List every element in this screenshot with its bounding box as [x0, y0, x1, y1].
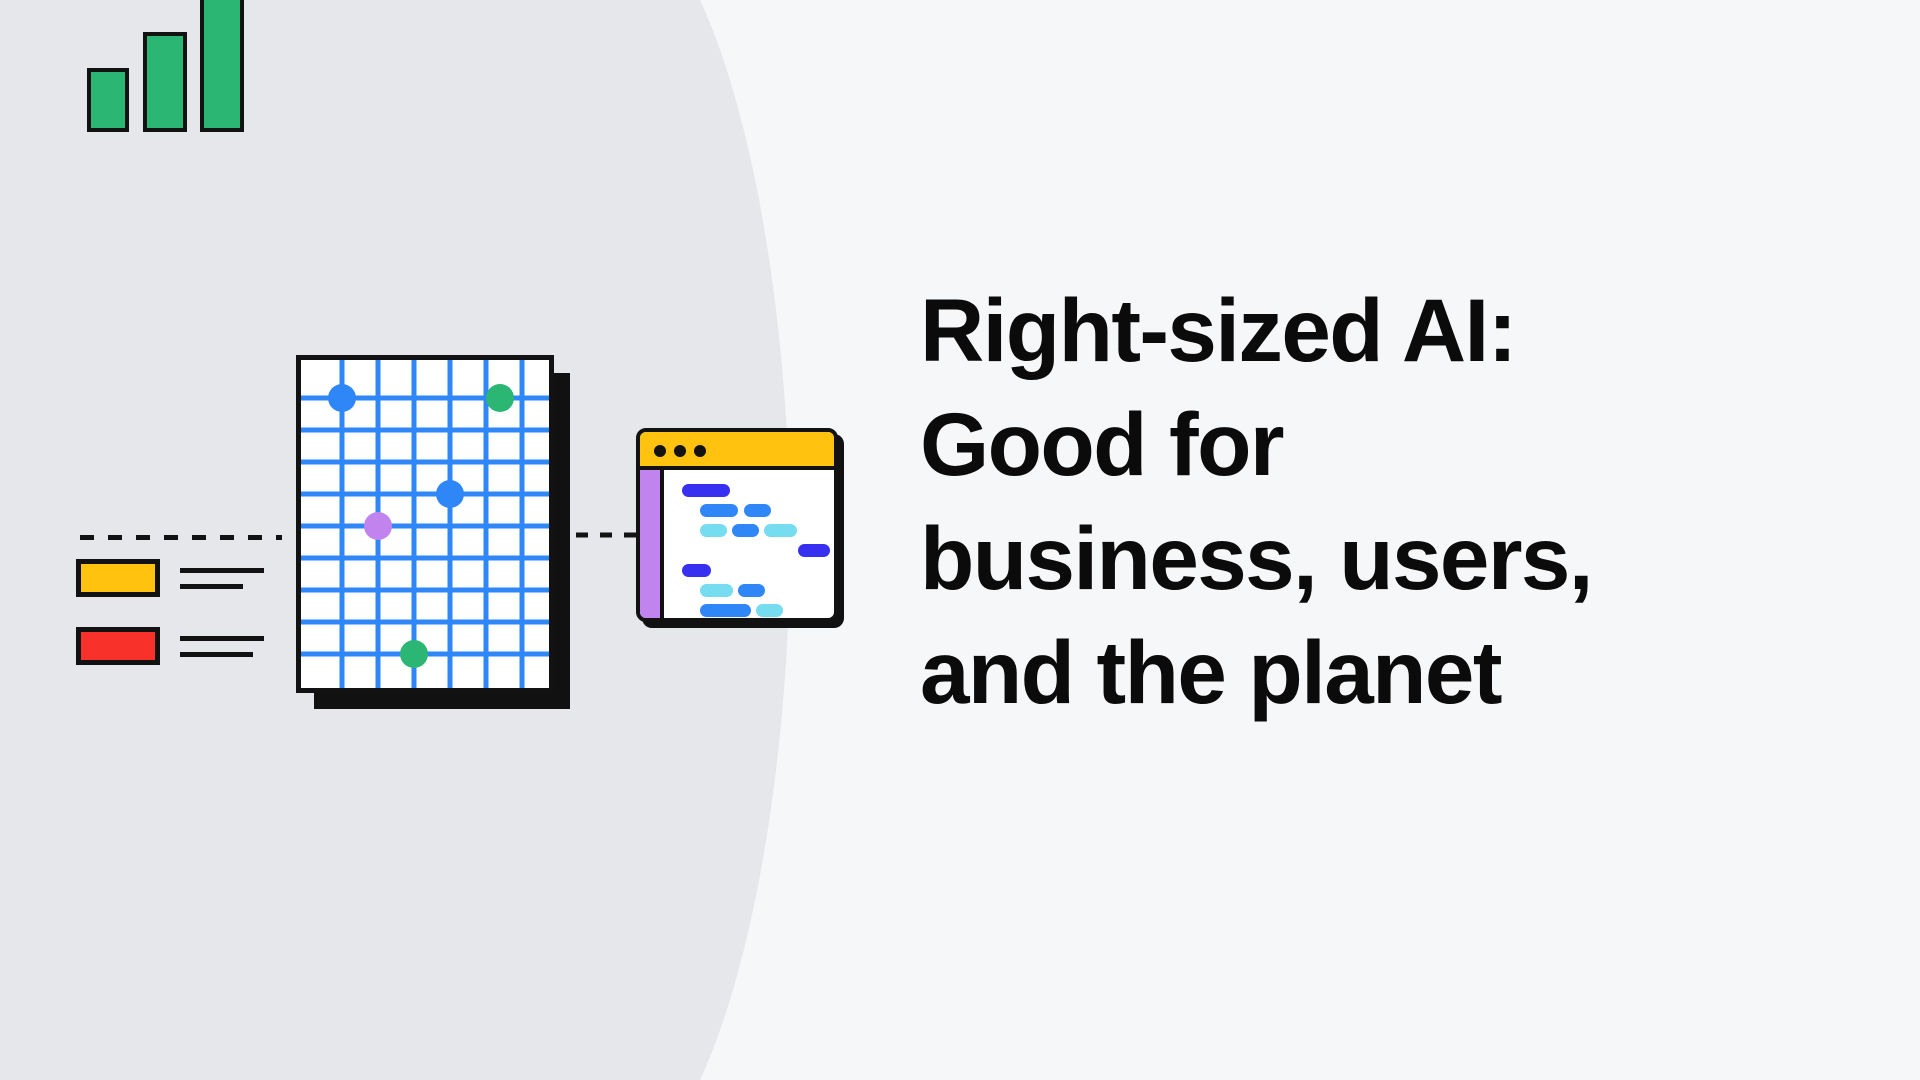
- title-line-2: Good for: [920, 388, 1820, 502]
- bar-1: [87, 68, 129, 132]
- window-dot-2-icon[interactable]: [674, 445, 686, 457]
- point-green-1: [486, 384, 514, 412]
- window-dot-3-icon[interactable]: [694, 445, 706, 457]
- bar-chart-illustration: [0, 0, 320, 700]
- legend-line: [180, 652, 253, 657]
- legend-lines-critical: [180, 627, 290, 667]
- legend-swatch-critical: [76, 627, 160, 665]
- legend-line: [180, 584, 243, 589]
- legend-line: [180, 636, 264, 641]
- scatter-grid-illustration: [296, 355, 596, 725]
- dashed-baseline-icon: [80, 535, 282, 540]
- point-purple-1: [364, 512, 392, 540]
- title-line-4: and the planet: [920, 616, 1820, 730]
- browser-window-illustration: [636, 428, 844, 628]
- title-line-1: Right-sized AI:: [920, 274, 1820, 388]
- legend-row-warning: [0, 559, 290, 599]
- point-green-2: [400, 640, 428, 668]
- page-title: Right-sized AI: Good for business, users…: [920, 274, 1820, 730]
- legend-line: [180, 568, 264, 573]
- code-chip: [798, 544, 830, 557]
- grid-card-frame: [296, 355, 554, 693]
- point-blue-2: [436, 480, 464, 508]
- code-canvas: [668, 470, 834, 618]
- code-chip: [732, 524, 759, 537]
- code-chip: [700, 504, 738, 517]
- legend-row-critical: [0, 627, 290, 667]
- bar-2: [143, 32, 187, 132]
- bar-3: [200, 0, 244, 132]
- code-chip: [682, 564, 711, 577]
- legend-swatch-warning: [76, 559, 160, 597]
- code-chip: [700, 584, 733, 597]
- browser-sidebar: [640, 470, 664, 618]
- code-chip: [700, 604, 751, 617]
- code-chip: [738, 584, 765, 597]
- window-dot-1-icon[interactable]: [654, 445, 666, 457]
- code-chip: [700, 524, 727, 537]
- code-chip: [744, 504, 771, 517]
- legend-lines-warning: [180, 559, 290, 599]
- code-chip: [756, 604, 783, 617]
- browser-window-body: [636, 428, 838, 622]
- code-chip: [682, 484, 730, 497]
- browser-titlebar: [640, 432, 834, 470]
- title-line-3: business, users,: [920, 502, 1820, 616]
- point-blue-1: [328, 384, 356, 412]
- hero-banner: Right-sized AI: Good for business, users…: [0, 0, 1920, 1080]
- code-chip: [764, 524, 797, 537]
